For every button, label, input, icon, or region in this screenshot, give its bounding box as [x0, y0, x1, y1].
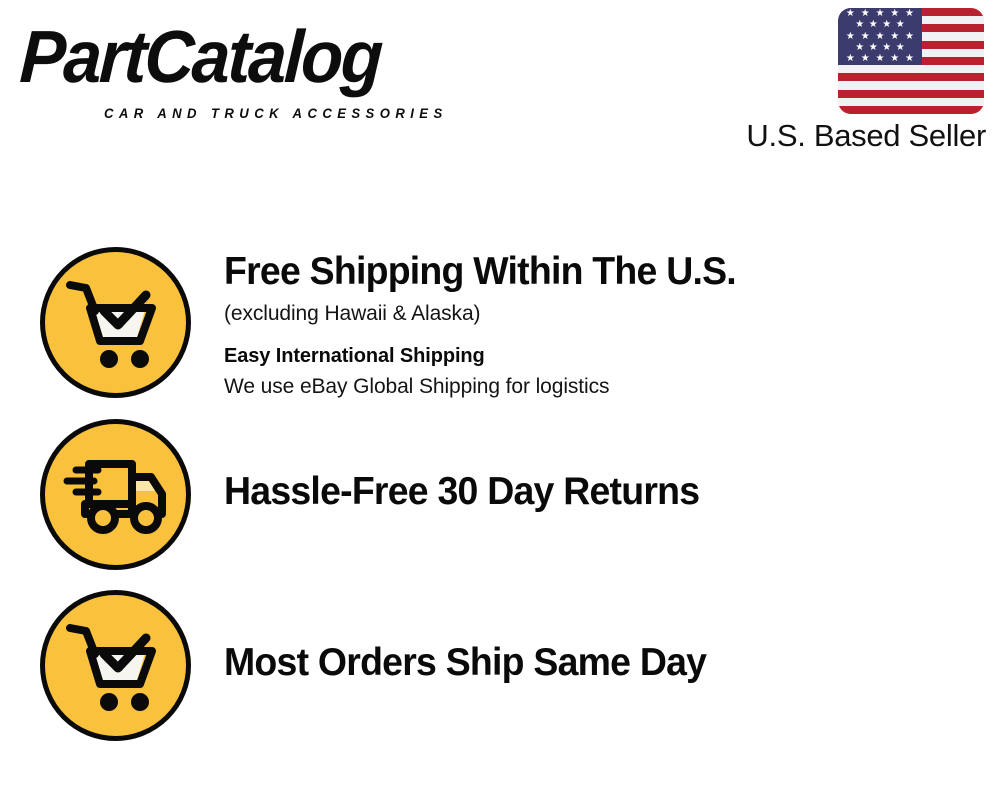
star-icon: ★: [882, 20, 891, 30]
feature-row: Free Shipping Within The U.S. (excluding…: [40, 247, 757, 402]
star-icon: ★: [875, 9, 884, 19]
flag-star-row: ★ ★ ★ ★ ★: [838, 31, 922, 42]
star-icon: ★: [869, 20, 878, 30]
star-icon: ★: [890, 32, 899, 42]
flag-star-row: ★ ★ ★ ★ ★: [838, 54, 922, 65]
brand-wordmark: PartCatalog: [18, 18, 382, 96]
brand-tagline: CAR AND TRUCK ACCESSORIES: [104, 106, 448, 121]
feature-subtext: We use eBay Global Shipping for logistic…: [224, 372, 757, 402]
feature-note: (excluding Hawaii & Alaska): [224, 299, 757, 329]
us-flag-icon: ★ ★ ★ ★ ★ ★ ★ ★ ★ ★ ★ ★ ★ ★ ★ ★: [838, 8, 984, 114]
star-icon: ★: [905, 54, 914, 64]
star-icon: ★: [905, 9, 914, 19]
feature-subheading: Easy International Shipping: [224, 341, 757, 371]
star-icon: ★: [861, 32, 870, 42]
star-icon: ★: [896, 20, 905, 30]
star-icon: ★: [846, 54, 855, 64]
flag-star-row: ★ ★ ★ ★: [838, 19, 922, 30]
brand-logo: PartCatalog CAR AND TRUCK ACCESSORIES: [22, 18, 492, 118]
star-icon: ★: [890, 9, 899, 19]
seller-badge-label: U.S. Based Seller: [714, 118, 986, 154]
star-icon: ★: [896, 43, 905, 53]
shopping-cart-check-icon: [40, 247, 191, 398]
flag-canton: ★ ★ ★ ★ ★ ★ ★ ★ ★ ★ ★ ★ ★ ★ ★ ★: [838, 8, 922, 65]
feature-text: Free Shipping Within The U.S. (excluding…: [224, 247, 757, 402]
shopping-cart-check-icon: [40, 590, 191, 741]
star-icon: ★: [846, 9, 855, 19]
flag-star-row: ★ ★ ★ ★ ★: [838, 8, 922, 19]
feature-title: Hassle-Free 30 Day Returns: [224, 469, 699, 515]
feature-text: Most Orders Ship Same Day: [224, 590, 726, 686]
feature-title: Most Orders Ship Same Day: [224, 640, 706, 686]
star-icon: ★: [846, 32, 855, 42]
delivery-truck-icon: [40, 419, 191, 570]
star-icon: ★: [875, 54, 884, 64]
star-icon: ★: [855, 43, 864, 53]
feature-title: Free Shipping Within The U.S.: [224, 249, 736, 295]
star-icon: ★: [855, 20, 864, 30]
star-icon: ★: [861, 54, 870, 64]
flag-star-row: ★ ★ ★ ★: [838, 42, 922, 53]
flag-stripe: [838, 106, 984, 114]
star-icon: ★: [875, 32, 884, 42]
feature-row: Most Orders Ship Same Day: [40, 590, 726, 741]
feature-row: Hassle-Free 30 Day Returns: [40, 419, 719, 570]
us-based-seller-badge: ★ ★ ★ ★ ★ ★ ★ ★ ★ ★ ★ ★ ★ ★ ★ ★: [714, 8, 986, 154]
star-icon: ★: [882, 43, 891, 53]
star-icon: ★: [869, 43, 878, 53]
star-icon: ★: [861, 9, 870, 19]
star-icon: ★: [905, 32, 914, 42]
star-icon: ★: [890, 54, 899, 64]
feature-text: Hassle-Free 30 Day Returns: [224, 419, 719, 515]
